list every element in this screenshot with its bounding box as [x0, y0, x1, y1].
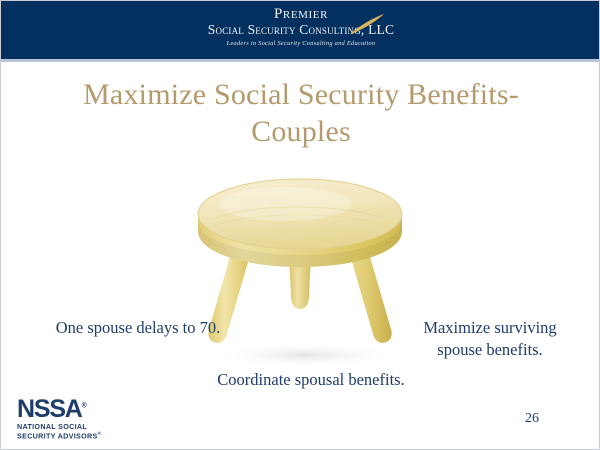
nssa-subtitle-line1: NATIONAL SOCIAL — [17, 423, 121, 431]
page-number: 26 — [525, 411, 565, 427]
nssa-subtitle-line2-wrap: SECURITY ADVISORS® — [17, 431, 121, 441]
nssa-subtitle-line2: SECURITY ADVISORS — [17, 432, 98, 441]
nssa-registered-icon: ® — [82, 403, 87, 410]
premier-logo-line1: Premier — [1, 7, 600, 22]
callout-maximize-surviving: Maximize surviving spouse benefits. — [405, 317, 575, 361]
premier-logo: Premier Social Security Consulting, LLC … — [1, 7, 600, 47]
premier-logo-line2: Social Security Consulting, LLC — [1, 23, 600, 37]
premier-logo-tagline: Leaders in Social Security Consulting an… — [1, 41, 600, 47]
callout-coordinate-spousal: Coordinate spousal benefits. — [216, 369, 406, 391]
nssa-subtitle: NATIONAL SOCIAL SECURITY ADVISORS® — [17, 423, 121, 441]
nssa-wordmark: NSSA® — [17, 397, 87, 422]
nssa-wordmark-text: NSSA — [17, 395, 82, 423]
nssa-logo: NSSA® NATIONAL SOCIAL SECURITY ADVISORS® — [17, 397, 121, 441]
page-title: Maximize Social Security Benefits-Couple… — [46, 77, 556, 150]
nssa-subtitle-registered-icon: ® — [98, 431, 102, 436]
three-legged-wooden-stool-image — [187, 169, 417, 369]
callout-one-spouse-delays: One spouse delays to 70. — [53, 317, 223, 339]
presentation-slide: Premier Social Security Consulting, LLC … — [0, 0, 600, 450]
header-divider-rule — [1, 59, 600, 62]
